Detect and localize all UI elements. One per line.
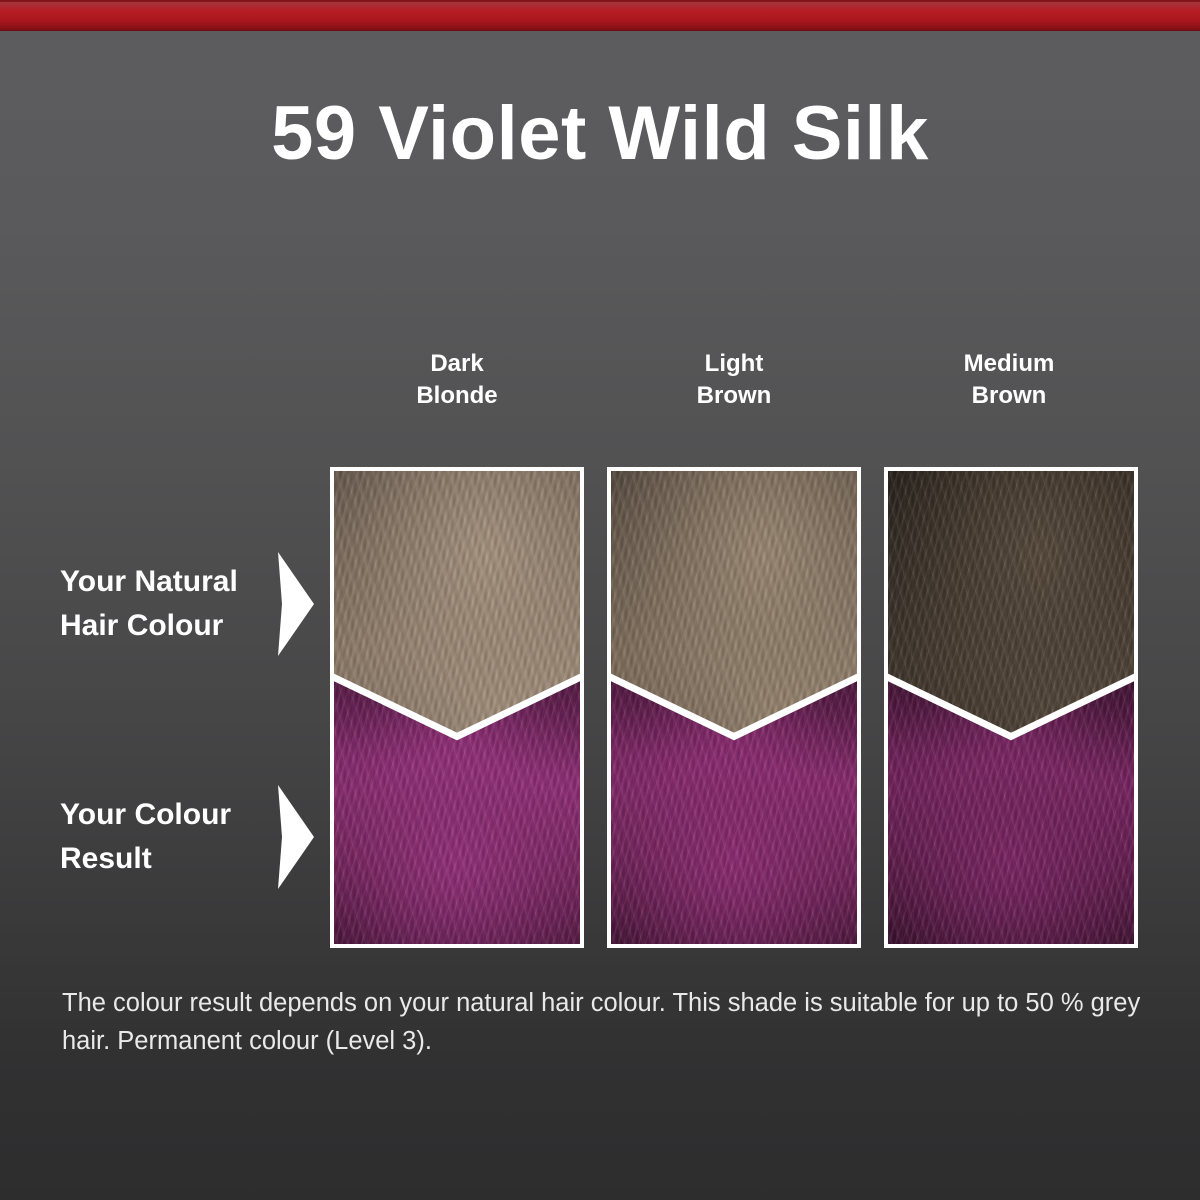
column-header-line1: Light [614, 348, 854, 380]
column-header-medium-brown: Medium Brown [889, 348, 1129, 412]
swatch-panel-dark-blonde [330, 467, 584, 948]
swatch-panel-medium-brown [884, 467, 1138, 948]
column-header-line2: Brown [889, 380, 1129, 412]
column-header-dark-blonde: Dark Blonde [337, 348, 577, 412]
brand-red-bar [0, 0, 1200, 31]
row-label-line2: Result [60, 837, 231, 881]
brand-bar-sheen [0, 2, 1200, 11]
row-label-natural-hair-colour: Your Natural Hair Colour [60, 560, 238, 647]
arrow-right-icon [278, 552, 314, 656]
column-header-line2: Brown [614, 380, 854, 412]
column-header-light-brown: Light Brown [614, 348, 854, 412]
disclaimer-text: The colour result depends on your natura… [62, 985, 1164, 1060]
column-header-line1: Medium [889, 348, 1129, 380]
column-header-line2: Blonde [337, 380, 577, 412]
row-label-line1: Your Natural [60, 560, 238, 604]
hair-colour-result-card: 59 Violet Wild Silk Dark Blonde Light Br… [0, 0, 1200, 1200]
arrow-right-icon [278, 785, 314, 889]
swatch-panel-light-brown [607, 467, 861, 948]
page-title: 59 Violet Wild Silk [0, 96, 1200, 172]
row-label-line2: Hair Colour [60, 604, 238, 648]
row-label-colour-result: Your Colour Result [60, 793, 231, 880]
column-header-line1: Dark [337, 348, 577, 380]
row-label-line1: Your Colour [60, 793, 231, 837]
